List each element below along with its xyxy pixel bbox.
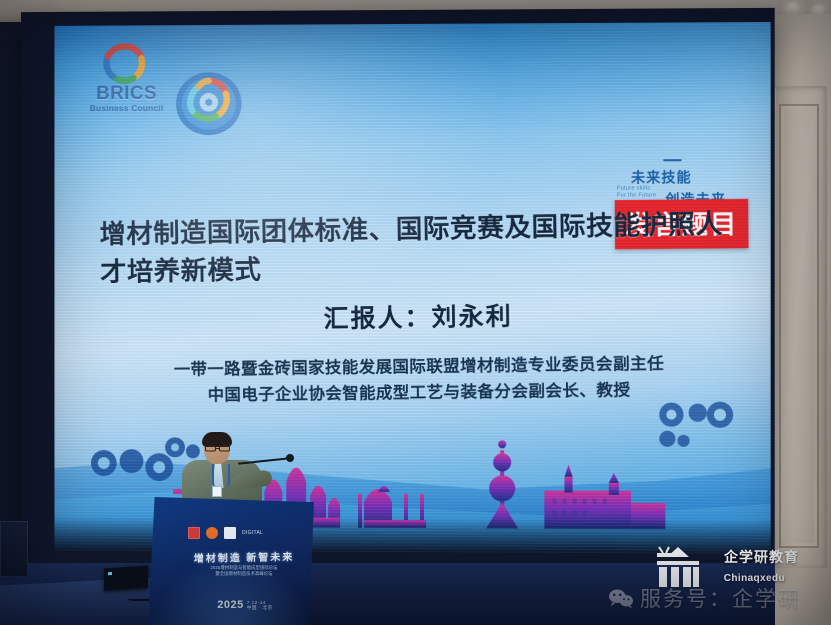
watermark: 企学研教育 Chinaqxedu 服务号：企学研 (599, 539, 819, 619)
brics-star-icon (96, 43, 155, 85)
presentation-slide: BRICS Business Council (54, 22, 770, 554)
gears-decoration-right (651, 399, 748, 450)
brics-subtitle: Business Council (84, 103, 169, 113)
mark-dash (663, 159, 681, 161)
slide-title: 增材制造国际团体标准、国际竞赛及国际技能护照人才培养新模式 (99, 204, 740, 291)
podium-panel: DIGITAL 增材制造 新智未来 2025增材制造与智能成型国际论坛 暨全国增… (148, 497, 314, 625)
door-panel-moulding (779, 104, 819, 548)
service-account-text: 服务号：企学研 (640, 583, 801, 613)
future-skills-line1: 未来技能 (631, 167, 692, 187)
podium: DIGITAL 增材制造 新智未来 2025增材制造与智能成型国际论坛 暨全国增… (148, 485, 318, 625)
podium-year: 2025 (217, 599, 243, 611)
brics-business-council-logo: BRICS Business Council (84, 43, 169, 121)
slide-affiliation: 一带一路暨金砖国家技能发展国际联盟增材制造专业委员会副主任 中国电子企业协会智能… (100, 350, 741, 410)
sponsor-logo-red (188, 527, 200, 539)
microphone-head (286, 454, 294, 462)
sponsor-logo-orange (206, 527, 218, 539)
wechat-icon (608, 588, 634, 609)
podium-subtitle-line2: 暨全国增材制造技术高峰论坛 (182, 571, 306, 577)
sponsor-logo-text: DIGITAL (242, 530, 263, 536)
podium-date-line2: 中国 · 北京 (247, 605, 273, 610)
podium-date: 2025 7.12-14 中国 · 北京 (192, 599, 298, 611)
brics-wordmark: BRICS (84, 83, 169, 105)
photo-scene: BRICS Business Council (0, 0, 831, 625)
slide-presenter: 汇报人：刘永利 (100, 294, 741, 339)
future-skills-english: Future skillsFor the Future (617, 185, 656, 199)
podium-subtitle: 2025增材制造与智能成型国际论坛 暨全国增材制造技术高峰论坛 (182, 565, 306, 577)
glasses-icon (205, 445, 230, 452)
podium-calligraphy: 增材制造 新智未来 (188, 548, 300, 565)
ceiling-light (786, 2, 802, 13)
projection-screen: BRICS Business Council (54, 22, 770, 554)
watermark-service-account: 服务号：企学研 (608, 583, 801, 613)
watermark-brand-cn: 企学研教育 (724, 547, 799, 567)
projection-screen-frame: BRICS Business Council (21, 8, 775, 582)
stage-speaker-box (0, 521, 28, 577)
podium-sponsor-logos: DIGITAL (188, 525, 298, 541)
skills-alliance-emblem (173, 71, 244, 137)
alliance-emblem-icon (173, 71, 244, 137)
sponsor-logo-emblem (224, 527, 236, 539)
